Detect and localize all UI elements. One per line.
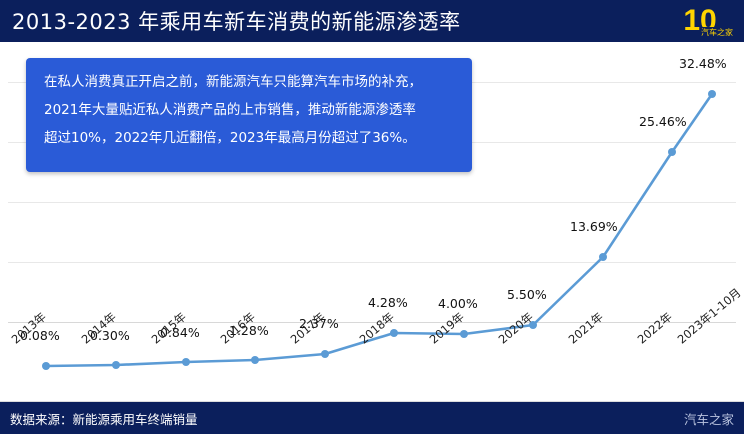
data-label: 25.46% bbox=[639, 114, 687, 129]
footer-bar: 数据来源：新能源乘用车终端销量 汽车之家 bbox=[0, 402, 744, 434]
badge-10: 10 汽车之家 bbox=[662, 1, 738, 41]
badge-subtitle: 汽车之家 bbox=[700, 27, 734, 38]
data-label: 5.50% bbox=[507, 287, 547, 302]
callout-line-3: 超过10%，2022年几近翻倍，2023年最高月份超过了36%。 bbox=[44, 128, 456, 148]
header-bar: 2013-2023 年乘用车新车消费的新能源渗透率 10 汽车之家 bbox=[0, 0, 744, 42]
brand-label: 汽车之家 bbox=[684, 409, 734, 428]
page-title: 2013-2023 年乘用车新车消费的新能源渗透率 bbox=[0, 6, 461, 36]
data-label: 32.48% bbox=[679, 56, 727, 71]
chart-page: 2013-2023 年乘用车新车消费的新能源渗透率 10 汽车之家 bbox=[0, 0, 744, 434]
data-label: 4.28% bbox=[368, 295, 408, 310]
data-label: 13.69% bbox=[570, 219, 618, 234]
source-note: 数据来源：新能源乘用车终端销量 bbox=[0, 409, 198, 428]
annotation-callout: 在私人消费真正开启之前，新能源汽车只能算汽车市场的补充， 2021年大量贴近私人… bbox=[26, 58, 472, 172]
callout-line-1: 在私人消费真正开启之前，新能源汽车只能算汽车市场的补充， bbox=[44, 72, 456, 92]
callout-line-2: 2021年大量贴近私人消费产品的上市销售，推动新能源渗透率 bbox=[44, 100, 456, 120]
chart-canvas: 0.08% 0.30% 0.84% 1.28% 2.37% 4.28% 4.00… bbox=[0, 42, 744, 392]
